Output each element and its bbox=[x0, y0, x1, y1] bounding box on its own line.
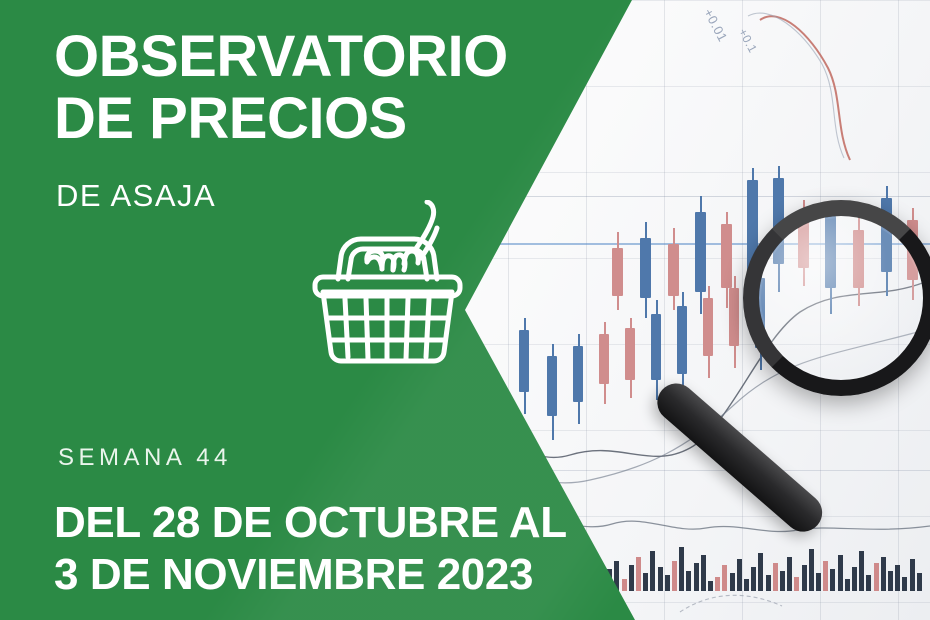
candle-body bbox=[651, 314, 661, 380]
volume-bar bbox=[629, 565, 634, 591]
volume-bar bbox=[737, 559, 742, 591]
volume-bar bbox=[910, 559, 915, 591]
volume-bar bbox=[780, 571, 785, 591]
volume-bar bbox=[650, 551, 655, 591]
volume-bar bbox=[766, 575, 771, 591]
volume-bar bbox=[672, 561, 677, 591]
volume-bar bbox=[643, 573, 648, 591]
candle-body bbox=[881, 198, 892, 272]
volume-bar bbox=[773, 563, 778, 591]
volume-bar bbox=[917, 573, 922, 591]
candle-body bbox=[599, 334, 609, 384]
volume-bar bbox=[694, 563, 699, 591]
candle-body bbox=[773, 178, 784, 264]
candle-body bbox=[907, 220, 918, 280]
volume-bar bbox=[888, 571, 893, 591]
candle-body bbox=[677, 306, 687, 374]
volume-bar bbox=[852, 567, 857, 591]
date-range: DEL 28 DE OCTUBRE AL 3 DE NOVIEMBRE 2023 bbox=[54, 497, 567, 601]
volume-bar bbox=[722, 565, 727, 591]
candle-body bbox=[755, 278, 765, 348]
candle-body bbox=[703, 298, 713, 356]
volume-bar bbox=[874, 563, 879, 591]
volume-bar bbox=[658, 567, 663, 591]
volume-bar bbox=[809, 549, 814, 591]
volume-bar bbox=[881, 557, 886, 591]
volume-bar bbox=[686, 571, 691, 591]
volume-bar bbox=[751, 567, 756, 591]
candle-body bbox=[668, 244, 679, 296]
volume-bar bbox=[830, 569, 835, 591]
volume-bar bbox=[823, 561, 828, 591]
volume-bar bbox=[636, 557, 641, 591]
candle-body bbox=[519, 330, 529, 392]
volume-bars bbox=[600, 545, 930, 591]
candle-body bbox=[640, 238, 651, 298]
candle-body bbox=[798, 214, 809, 268]
volume-bar bbox=[701, 555, 706, 591]
poster-canvas: +0.01 +0.1 bbox=[0, 0, 930, 620]
candle-body bbox=[612, 248, 623, 296]
volume-bar bbox=[838, 555, 843, 591]
volume-bar bbox=[866, 575, 871, 591]
volume-bar bbox=[622, 579, 627, 591]
candle-body bbox=[547, 356, 557, 416]
candle-body bbox=[729, 288, 739, 346]
volume-bar bbox=[744, 579, 749, 591]
volume-bar bbox=[758, 553, 763, 591]
volume-bar bbox=[895, 565, 900, 591]
candle-body bbox=[625, 328, 635, 380]
volume-bar bbox=[665, 575, 670, 591]
shopping-basket-icon bbox=[295, 200, 480, 385]
candle-body bbox=[573, 346, 583, 402]
volume-bar bbox=[859, 551, 864, 591]
volume-bar bbox=[708, 581, 713, 591]
candle-body bbox=[747, 180, 758, 272]
volume-bar bbox=[787, 557, 792, 591]
week-label: SEMANA 44 bbox=[58, 444, 232, 472]
page-title: OBSERVATORIO DE PRECIOS bbox=[54, 26, 508, 150]
volume-bar bbox=[845, 579, 850, 591]
volume-bar bbox=[802, 565, 807, 591]
page-subtitle: DE ASAJA bbox=[56, 178, 216, 214]
volume-bar bbox=[679, 547, 684, 591]
candle-body bbox=[695, 212, 706, 292]
candle-body bbox=[853, 230, 864, 288]
volume-bar bbox=[794, 577, 799, 591]
volume-bar bbox=[730, 573, 735, 591]
volume-bar bbox=[715, 577, 720, 591]
candle-body bbox=[825, 216, 836, 288]
volume-bar bbox=[902, 577, 907, 591]
candle-body bbox=[721, 224, 732, 288]
volume-bar bbox=[816, 573, 821, 591]
